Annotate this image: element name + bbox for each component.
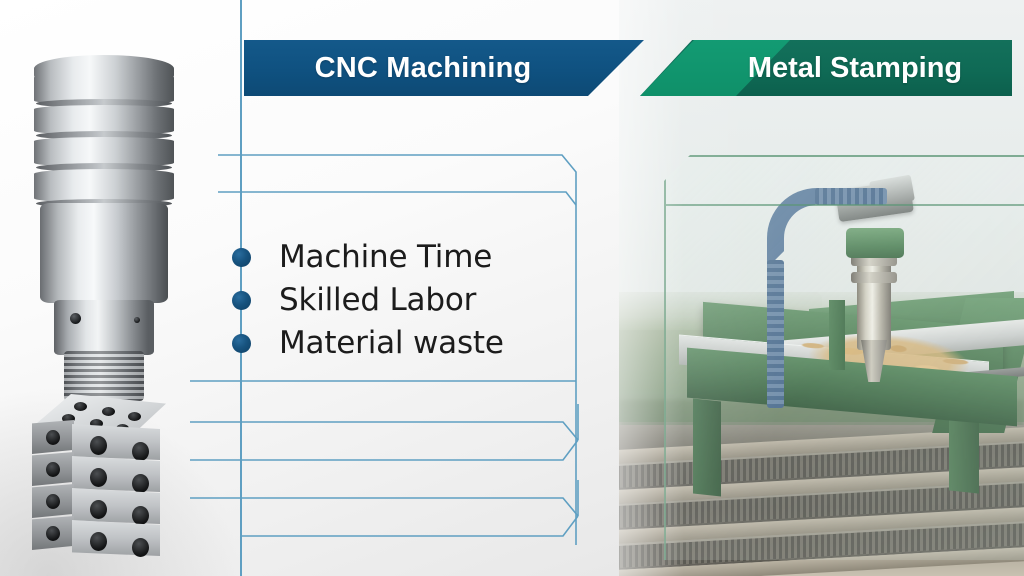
- glass-enclosure-rail: [666, 204, 1024, 206]
- bullet-label: Machine Time: [279, 242, 492, 273]
- slide-root: Machine Time Skilled Labor Material wast…: [0, 0, 1024, 576]
- bullet-label: Skilled Labor: [279, 285, 476, 316]
- connector-line-5: [190, 440, 578, 460]
- glass-enclosure: [664, 155, 1024, 560]
- banner-metal-stamping-label: Metal Stamping: [748, 52, 962, 85]
- bullet-item-machine-time: Machine Time: [232, 236, 562, 279]
- connector-line-6: [190, 498, 578, 516]
- connector-line-1: [218, 155, 576, 196]
- banner-cnc-machining: CNC Machining: [244, 40, 644, 96]
- connector-line-2: [218, 192, 576, 205]
- bullet-list: Machine Time Skilled Labor Material wast…: [232, 236, 562, 365]
- bullet-item-material-waste: Material waste: [232, 322, 562, 365]
- banner-cnc-machining-label: CNC Machining: [315, 52, 532, 85]
- bullet-item-skilled-labor: Skilled Labor: [232, 279, 562, 322]
- bullet-dot-icon: [232, 248, 251, 267]
- connector-line-7: [241, 516, 578, 536]
- bullet-label: Material waste: [279, 328, 504, 359]
- banner-metal-stamping: Metal Stamping: [640, 40, 1012, 96]
- bullet-dot-icon: [232, 334, 251, 353]
- connector-line-4: [190, 422, 578, 440]
- bullet-dot-icon: [232, 291, 251, 310]
